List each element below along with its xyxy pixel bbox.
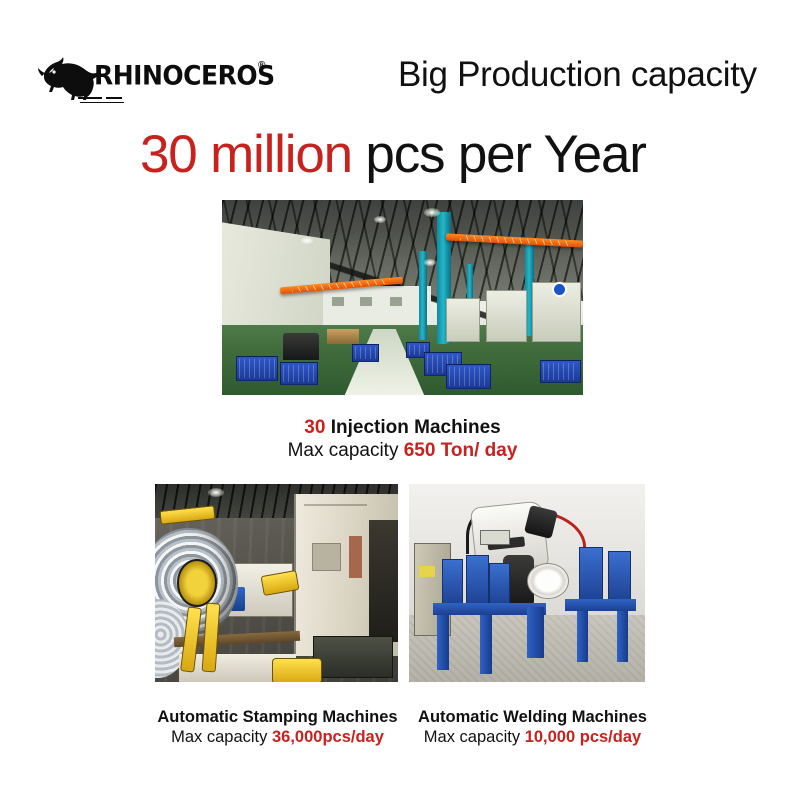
poster-root: RHINOCEROS ® Big Production capacity 30 … [0, 0, 800, 800]
welding-capacity-label: Max capacity [424, 728, 520, 746]
welding-label: Automatic Welding Machines [418, 708, 647, 726]
injection-caption: 30 Injection Machines Max capacity 650 T… [205, 416, 600, 462]
registered-mark: ® [258, 60, 265, 71]
rhinoceros-silhouette-icon [36, 52, 102, 100]
injection-workshop-photo [222, 200, 583, 395]
brand-name: RHINOCEROS [94, 62, 275, 89]
welding-caption: Automatic Welding Machines Max capacity … [405, 707, 660, 747]
page-subtitle: Big Production capacity [398, 55, 770, 95]
welding-capacity-value: 10,000 pcs/day [525, 728, 642, 746]
stamping-label: Automatic Stamping Machines [157, 708, 397, 726]
stamping-machine-photo [155, 484, 398, 682]
wall-badge-icon [554, 284, 565, 295]
stamping-capacity-value: 36,000pcs/day [272, 728, 384, 746]
headline-highlight: 30 million [140, 125, 352, 184]
injection-count: 30 [304, 417, 325, 438]
headline-rest: pcs per Year [365, 125, 645, 184]
page-title: 30 million pcs per Year [140, 124, 680, 185]
injection-label: Injection Machines [331, 417, 501, 438]
stamping-caption: Automatic Stamping Machines Max capacity… [145, 707, 410, 747]
injection-capacity-value: 650 Ton/ day [404, 440, 518, 461]
brand-logo: RHINOCEROS ® [36, 52, 246, 106]
injection-capacity-label: Max capacity [288, 440, 399, 461]
welding-machine-photo [409, 484, 645, 682]
logo-ground-lines [78, 97, 140, 106]
stamping-capacity-label: Max capacity [171, 728, 267, 746]
